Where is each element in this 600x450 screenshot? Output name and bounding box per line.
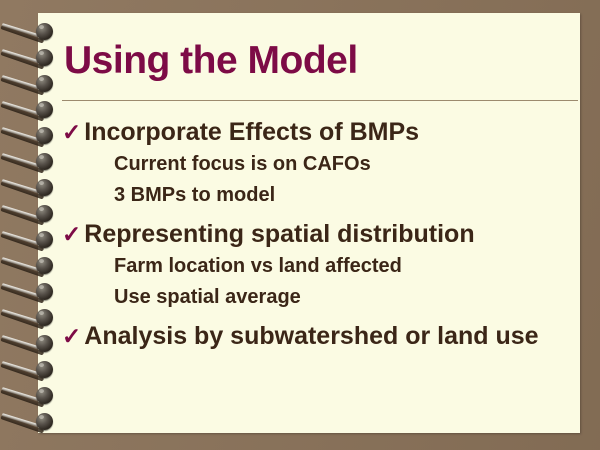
slide-content: Using the Model ✓ Incorporate Effects of… xyxy=(38,13,580,433)
page-title: Using the Model xyxy=(64,39,358,83)
sub-bullet-label: Farm location vs land affected xyxy=(114,253,578,280)
bullet-label: Representing spatial distribution xyxy=(84,219,474,249)
sub-bullet-label: 3 BMPs to model xyxy=(114,182,578,209)
checkmark-icon: ✓ xyxy=(62,219,81,249)
slide-canvas: Using the Model ✓ Incorporate Effects of… xyxy=(0,0,600,450)
checkmark-icon: ✓ xyxy=(62,321,81,351)
title-divider xyxy=(62,100,578,101)
bullet-item: ✓ Representing spatial distribution xyxy=(62,219,578,249)
bullet-list: ✓ Incorporate Effects of BMPs Current fo… xyxy=(62,117,578,351)
notepad-paper: Using the Model ✓ Incorporate Effects of… xyxy=(38,13,580,433)
bullet-label: Analysis by subwatershed or land use xyxy=(84,321,538,351)
checkmark-icon: ✓ xyxy=(62,117,81,147)
bullet-item: ✓ Incorporate Effects of BMPs xyxy=(62,117,578,147)
sub-bullet-label: Use spatial average xyxy=(114,284,578,311)
bullet-item: ✓ Analysis by subwatershed or land use xyxy=(62,321,578,351)
sub-bullet-label: Current focus is on CAFOs xyxy=(114,151,578,178)
bullet-label: Incorporate Effects of BMPs xyxy=(84,117,419,147)
